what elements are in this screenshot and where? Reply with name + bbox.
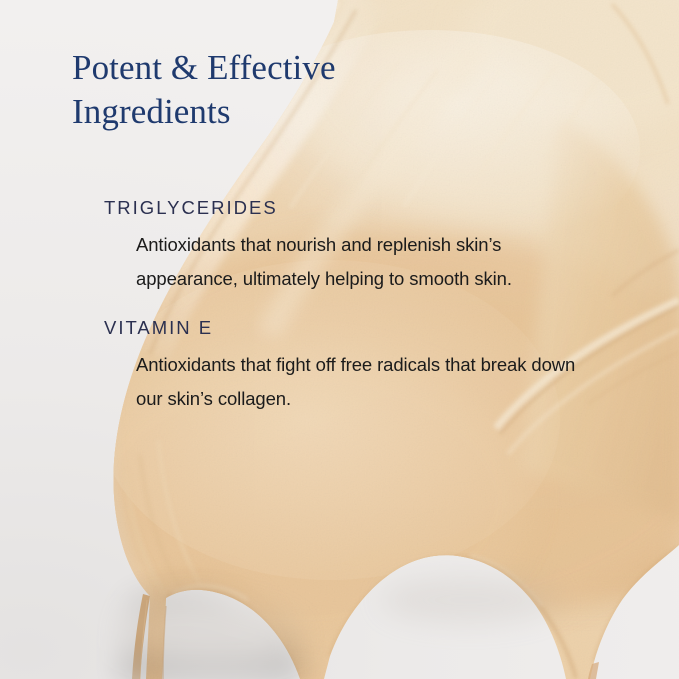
- product-ingredients-graphic: Potent & Effective Ingredients TRIGLYCER…: [0, 0, 679, 679]
- ingredient-description: Antioxidants that fight off free radical…: [136, 348, 606, 416]
- ingredient-heading: VITAMIN E: [104, 317, 624, 339]
- page-title: Potent & Effective Ingredients: [72, 46, 492, 134]
- text-content: Potent & Effective Ingredients TRIGLYCER…: [0, 0, 679, 679]
- ingredient-section-triglycerides: TRIGLYCERIDES Antioxidants that nourish …: [104, 197, 624, 296]
- ingredient-description: Antioxidants that nourish and replenish …: [136, 228, 606, 296]
- ingredient-heading: TRIGLYCERIDES: [104, 197, 624, 219]
- ingredient-section-vitamin-e: VITAMIN E Antioxidants that fight off fr…: [104, 317, 624, 416]
